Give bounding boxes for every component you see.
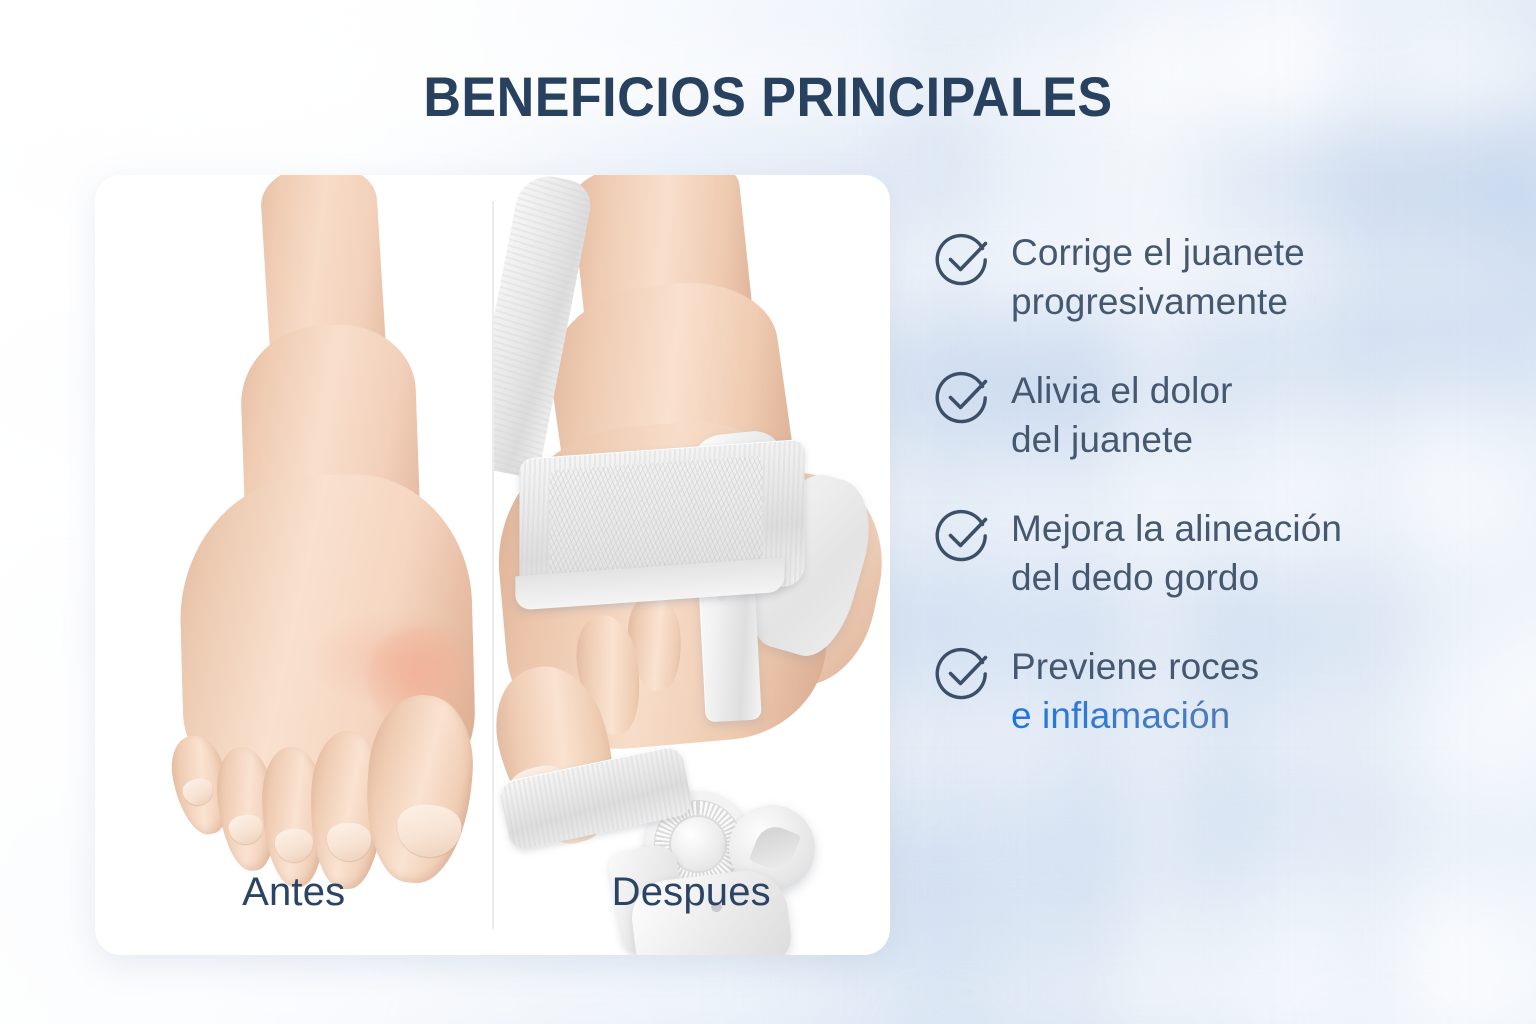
benefit-line: Alivia el dolor bbox=[1011, 366, 1495, 415]
promo-banner: BENEFICIOS PRINCIPALES bbox=[0, 0, 1536, 1024]
benefit-text: Previene rocese inflamación bbox=[1011, 642, 1495, 740]
before-after-card: Antes bbox=[95, 175, 890, 955]
braced-foot-illustration bbox=[493, 175, 891, 875]
check-circle-icon bbox=[935, 231, 991, 287]
benefits-list: Corrige el juaneteprogresivamenteAlivia … bbox=[935, 228, 1495, 750]
pane-divider bbox=[492, 201, 494, 929]
before-photo bbox=[95, 175, 493, 955]
benefit-item-corrige: Corrige el juaneteprogresivamente bbox=[935, 228, 1495, 336]
before-caption: Antes bbox=[95, 870, 493, 915]
benefit-line: Mejora la alineación bbox=[1011, 504, 1495, 553]
benefit-line: del dedo gordo bbox=[1011, 553, 1495, 602]
check-circle-icon bbox=[935, 507, 991, 563]
after-photo bbox=[493, 175, 891, 955]
benefit-text: Corrige el juaneteprogresivamente bbox=[1011, 228, 1495, 326]
benefit-line: progresivamente bbox=[1011, 277, 1495, 326]
benefit-line: Previene roces bbox=[1011, 642, 1495, 691]
benefit-text: Alivia el dolordel juanete bbox=[1011, 366, 1495, 464]
page-title: BENEFICIOS PRINCIPALES bbox=[54, 64, 1482, 129]
benefit-item-alineacion: Mejora la alineacióndel dedo gordo bbox=[935, 504, 1495, 612]
benefit-line: del juanete bbox=[1011, 415, 1495, 464]
check-circle-icon bbox=[935, 645, 991, 701]
benefit-line: e inflamación bbox=[1011, 691, 1495, 740]
benefit-text: Mejora la alineacióndel dedo gordo bbox=[1011, 504, 1495, 602]
after-pane: Despues bbox=[493, 175, 891, 955]
after-caption: Despues bbox=[493, 870, 891, 915]
bare-foot-illustration bbox=[95, 175, 492, 875]
benefit-item-previene: Previene rocese inflamación bbox=[935, 642, 1495, 750]
check-circle-icon bbox=[935, 369, 991, 425]
before-pane: Antes bbox=[95, 175, 493, 955]
benefit-item-alivia: Alivia el dolordel juanete bbox=[935, 366, 1495, 474]
benefit-line: Corrige el juanete bbox=[1011, 228, 1495, 277]
